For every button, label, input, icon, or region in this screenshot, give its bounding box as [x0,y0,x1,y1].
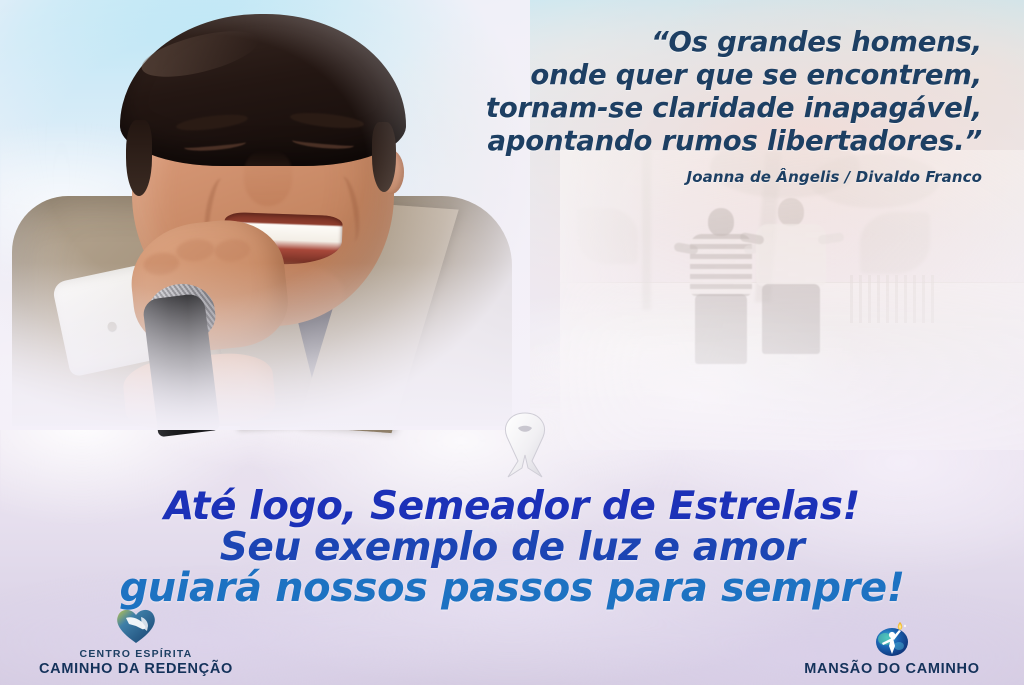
quote-line-2: onde quer que se encontrem, [422,59,982,92]
globe-figure-torch-icon [770,618,1014,660]
logo-left-line-1: CENTRO ESPÍRITA [14,648,258,660]
tribute-headline: Até logo, Semeador de Estrelas! Seu exem… [0,486,1024,609]
logo-centro-espirita: CENTRO ESPÍRITA CAMINHO DA REDENÇÃO [14,603,258,677]
headline-line-1: Até logo, Semeador de Estrelas! [0,486,1024,527]
logo-left-line-2: CAMINHO DA REDENÇÃO [14,661,258,677]
sideburn [126,120,152,196]
headline-line-2: Seu exemplo de luz e amor [0,527,1024,568]
footer-logos: CENTRO ESPÍRITA CAMINHO DA REDENÇÃO [0,601,1024,685]
memorial-poster: “Os grandes homens, onde quer que se enc… [0,0,1024,685]
scene-fade-overlay [560,150,1024,450]
quote-attribution: Joanna de Ângelis / Divaldo Franco [422,168,982,186]
quote-line-3: tornam-se claridade inapagável, [422,92,982,125]
knuckle [175,237,215,263]
background-scene-photo [560,150,1024,450]
quote-line-1: “Os grandes homens, [422,26,982,59]
ribbon-svg [488,405,562,483]
cuff-button [107,321,118,332]
knuckle [142,251,180,277]
mourning-ribbon-icon [488,405,562,483]
globe-figure-svg [869,618,915,660]
logo-mansao-do-caminho: MANSÃO DO CAMINHO [770,618,1014,677]
logo-right-line-2: MANSÃO DO CAMINHO [770,661,1014,677]
hair [120,14,406,166]
sideburn [372,122,396,192]
nose [244,150,292,206]
quote-line-4: apontando rumos libertadores.” [422,125,982,158]
quote-block: “Os grandes homens, onde quer que se enc… [422,26,982,186]
heart-hands-svg [114,605,158,645]
heart-hands-icon [14,603,258,645]
knuckle [213,238,251,264]
